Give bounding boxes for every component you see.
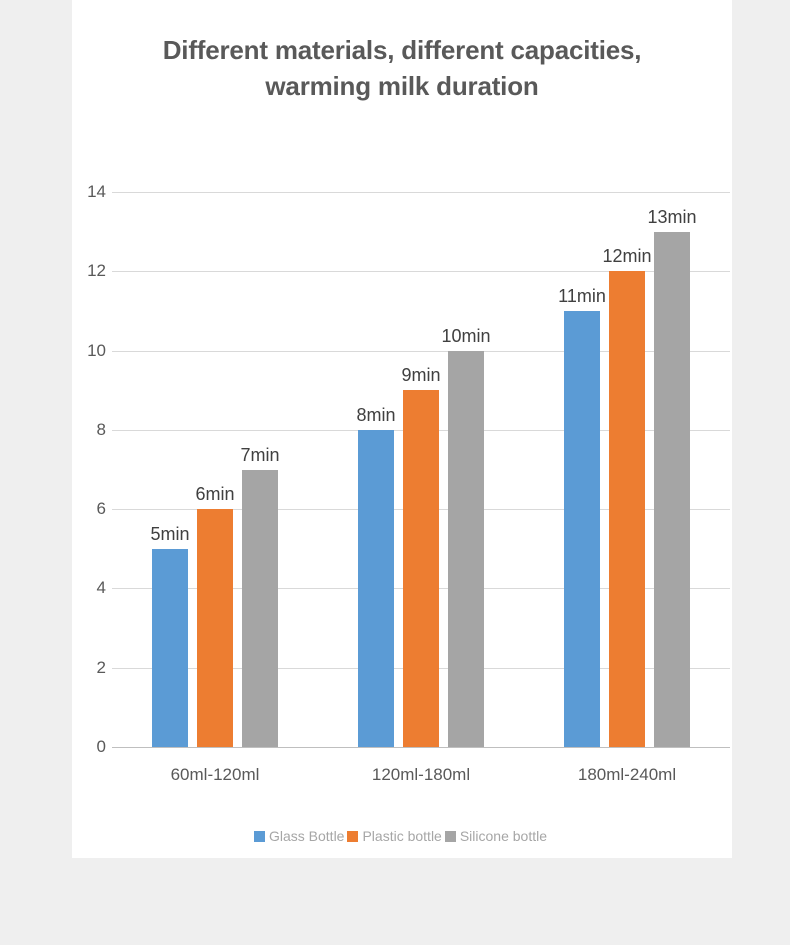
y-axis-tick-labels: 14121086420 [72, 192, 106, 747]
y-axis-tick-label: 12 [66, 261, 106, 281]
y-axis-tick-label: 10 [66, 341, 106, 361]
bar-column: 10min [448, 192, 484, 747]
y-axis-tick-label: 6 [66, 499, 106, 519]
bar-column: 9min [403, 192, 439, 747]
chart-title-line-1: Different materials, different capacitie… [72, 32, 732, 68]
bar[interactable] [242, 470, 278, 748]
bar-value-label: 13min [632, 207, 712, 228]
y-axis-tick-label: 0 [66, 737, 106, 757]
legend-label: Glass Bottle [269, 828, 345, 844]
x-axis-category-labels: 60ml-120ml120ml-180ml180ml-240ml [112, 755, 730, 785]
bar[interactable] [609, 271, 645, 747]
bar[interactable] [358, 430, 394, 747]
bar-group-bars: 8min9min10min [318, 192, 524, 747]
legend-swatch-icon [445, 831, 456, 842]
bar-column: 6min [197, 192, 233, 747]
chart-title-line-2: warming milk duration [72, 68, 732, 104]
bar[interactable] [564, 311, 600, 747]
chart-legend: Glass BottlePlastic bottleSilicone bottl… [72, 828, 732, 844]
chart-page: Different materials, different capacitie… [0, 0, 790, 945]
legend-swatch-icon [347, 831, 358, 842]
x-axis-category-label: 120ml-180ml [318, 755, 524, 785]
legend-label: Silicone bottle [460, 828, 548, 844]
legend-swatch-icon [254, 831, 265, 842]
legend-item[interactable]: Silicone bottle [445, 828, 548, 844]
bar-value-label: 10min [426, 326, 506, 347]
bar-group: 8min9min10min [318, 192, 524, 747]
bar-group: 11min12min13min [524, 192, 730, 747]
bar-group: 5min6min7min [112, 192, 318, 747]
y-axis-tick-label: 8 [66, 420, 106, 440]
bar-value-label: 7min [220, 445, 300, 466]
bar-column: 11min [564, 192, 600, 747]
bar-group-bars: 5min6min7min [112, 192, 318, 747]
bar[interactable] [152, 549, 188, 747]
x-axis-line [112, 747, 730, 748]
bar[interactable] [654, 232, 690, 747]
legend-item[interactable]: Plastic bottle [347, 828, 442, 844]
legend-item[interactable]: Glass Bottle [254, 828, 345, 844]
bar-column: 5min [152, 192, 188, 747]
bar[interactable] [403, 390, 439, 747]
legend-label: Plastic bottle [362, 828, 442, 844]
bar-column: 8min [358, 192, 394, 747]
bar-column: 7min [242, 192, 278, 747]
y-axis-tick-label: 14 [66, 182, 106, 202]
bar[interactable] [448, 351, 484, 747]
bar-groups: 5min6min7min8min9min10min11min12min13min [112, 192, 730, 747]
y-axis-tick-label: 4 [66, 578, 106, 598]
bar-group-bars: 11min12min13min [524, 192, 730, 747]
x-axis-category-label: 180ml-240ml [524, 755, 730, 785]
chart-panel: Different materials, different capacitie… [72, 0, 732, 858]
chart-title: Different materials, different capacitie… [72, 32, 732, 104]
bar[interactable] [197, 509, 233, 747]
x-axis-category-label: 60ml-120ml [112, 755, 318, 785]
bar-column: 13min [654, 192, 690, 747]
bar-column: 12min [609, 192, 645, 747]
y-axis-tick-label: 2 [66, 658, 106, 678]
